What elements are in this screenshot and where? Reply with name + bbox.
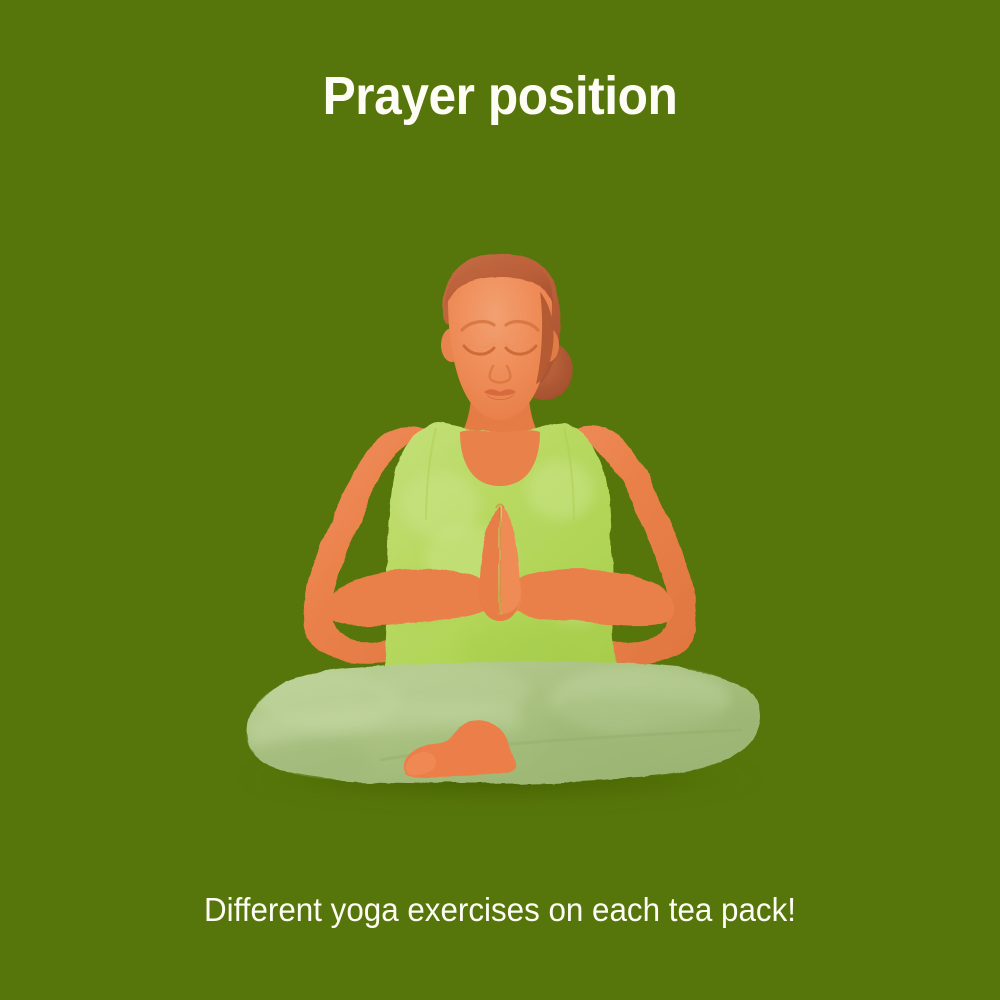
- poster-canvas: Prayer position: [0, 0, 1000, 1000]
- poster-subtitle: Different yoga exercises on each tea pac…: [25, 891, 975, 929]
- head-group: [441, 254, 573, 436]
- yoga-figure-svg: [0, 0, 1000, 1000]
- yoga-illustration: [0, 0, 1000, 1000]
